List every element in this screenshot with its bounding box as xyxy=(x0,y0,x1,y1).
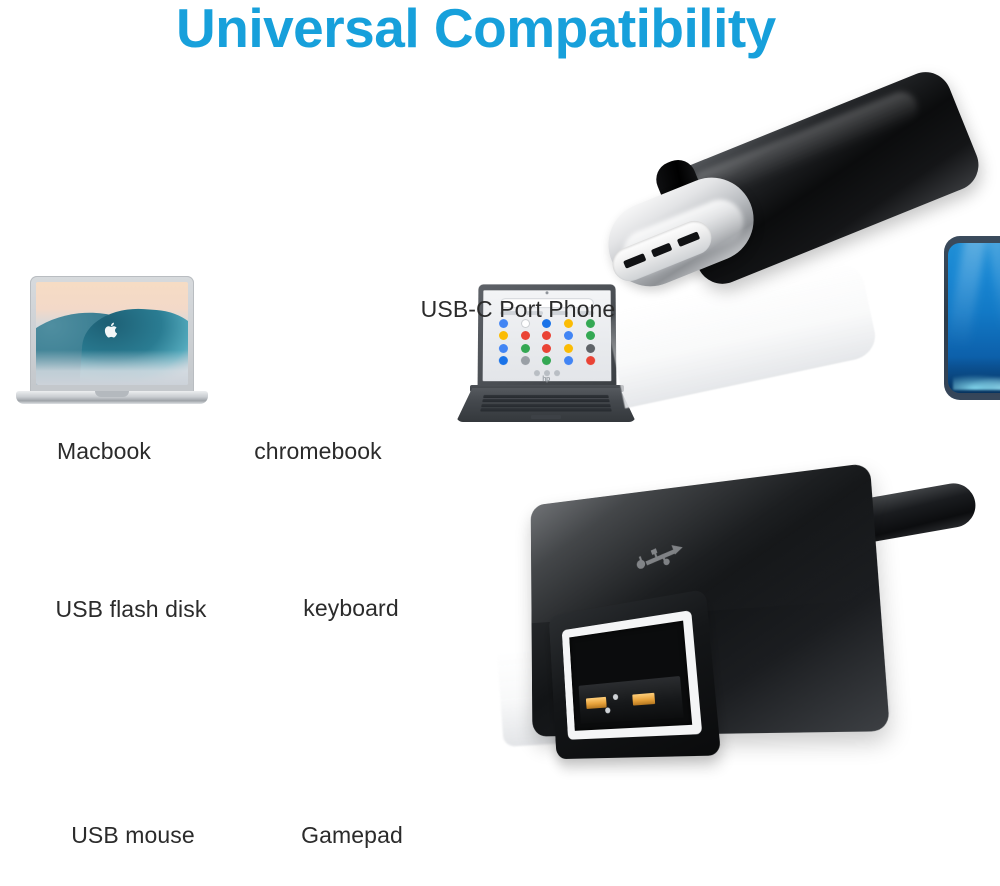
usb-trident-icon xyxy=(636,541,687,571)
usb-a-housing xyxy=(531,463,890,737)
apple-logo-icon xyxy=(105,321,120,339)
smartphone-icon xyxy=(472,118,564,282)
device-macbook: Macbook xyxy=(8,138,200,278)
macbook-screen xyxy=(36,282,188,385)
usb-a-front-face xyxy=(549,589,721,759)
device-keyboard: keyboard xyxy=(243,443,459,563)
usb-c-male-connector xyxy=(596,62,1000,392)
device-label-keyboard: keyboard xyxy=(303,595,398,622)
device-label-gamepad: Gamepad xyxy=(301,822,403,849)
usb-a-contact xyxy=(632,693,655,706)
hp-logo-icon: hp xyxy=(542,376,550,383)
page-title: Universal Compatibility xyxy=(176,0,776,60)
usb-a-port-opening xyxy=(562,610,702,740)
chromebook-trackpad xyxy=(531,415,561,419)
device-chromebook: hp chromebook xyxy=(228,142,408,280)
macbook-lid xyxy=(30,276,194,394)
product-compatibility-image: Universal Compatibility xyxy=(0,0,1000,886)
device-label-usbc-phone: USB-C Port Phone xyxy=(421,296,616,323)
device-gamepad: Y X B A Gamepad xyxy=(273,672,431,790)
chromebook-keyboard xyxy=(480,395,612,412)
device-label-usb-flash-disk: USB flash disk xyxy=(56,596,207,623)
device-usb-mouse: USB mouse xyxy=(60,668,206,790)
device-usbc-phone: USB-C Port Phone xyxy=(472,118,564,282)
keyboard-icon xyxy=(243,443,459,563)
usb-a-contact xyxy=(586,697,607,709)
macbook-laptop-icon xyxy=(8,138,200,278)
device-usb-flash-disk: USB FLASH USB flash disk xyxy=(92,450,170,562)
device-label-usb-mouse: USB mouse xyxy=(71,822,195,849)
chromeos-app-grid xyxy=(493,318,601,365)
chromebook-laptop-icon: hp xyxy=(228,142,408,280)
computer-mouse-icon xyxy=(60,668,206,790)
usb-flash-drive-icon: USB FLASH xyxy=(92,450,170,562)
usb-a-tongue xyxy=(579,676,684,724)
usb-a-female-port xyxy=(462,468,1000,868)
webcam-icon xyxy=(546,291,549,294)
gamepad-controller-icon: Y X B A xyxy=(273,672,431,790)
